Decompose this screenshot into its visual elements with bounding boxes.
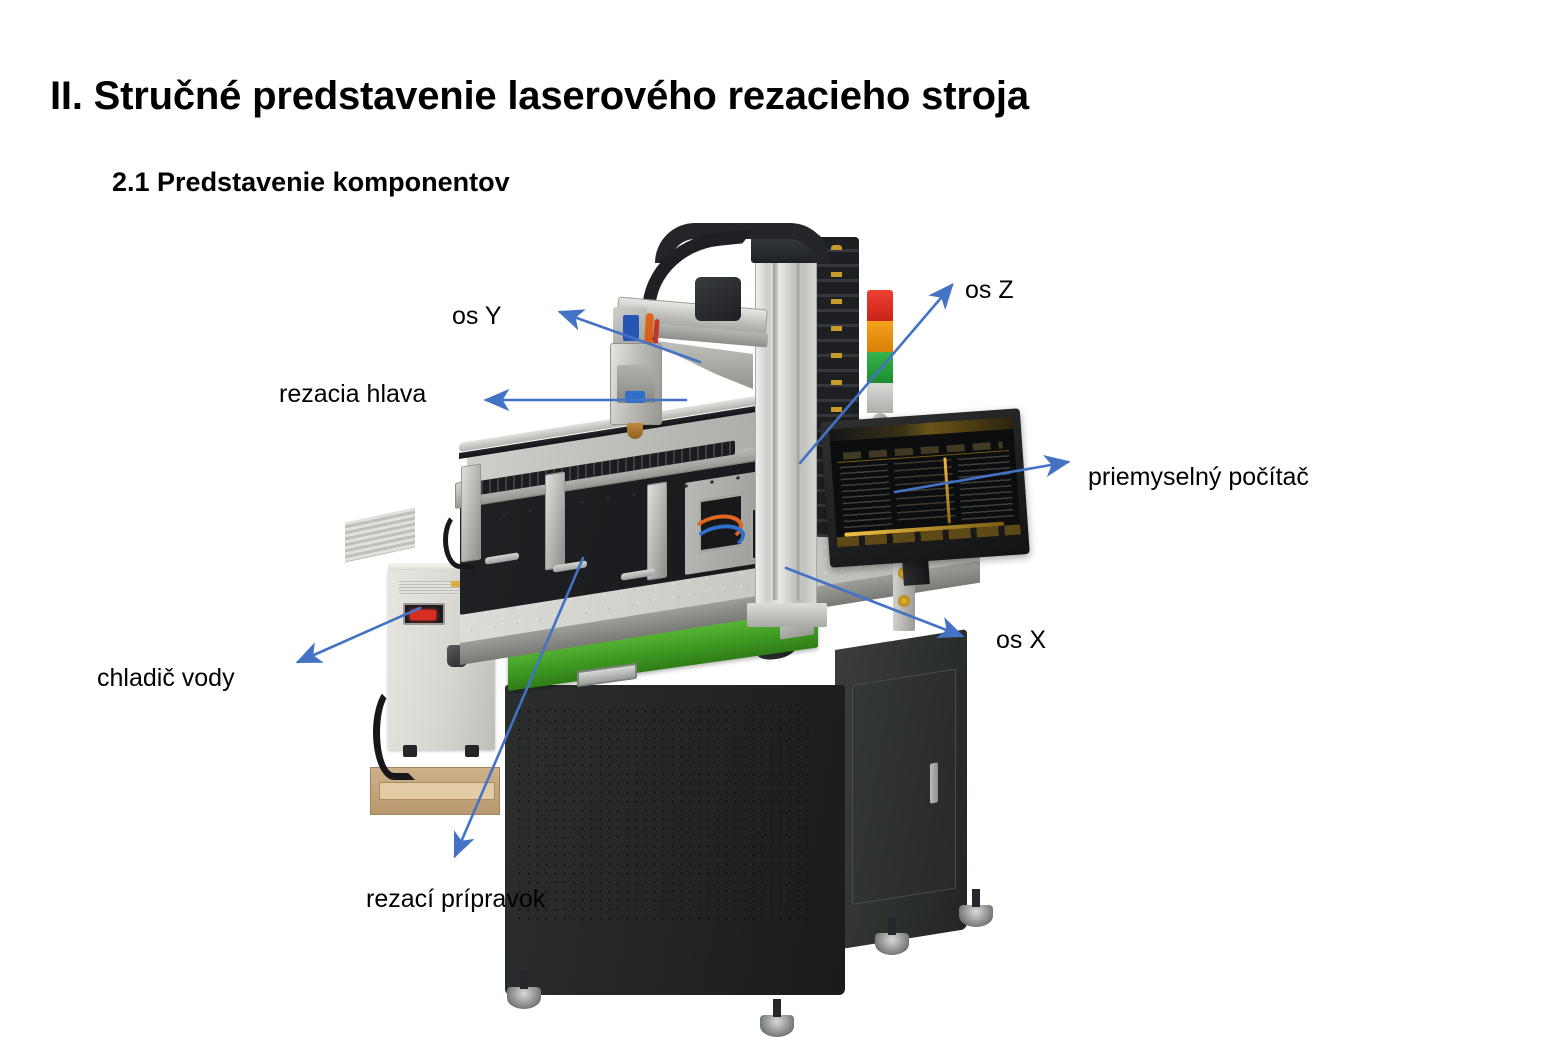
bios-right-column — [957, 455, 1013, 520]
presentation-slide: II. Stručné predstavenie laserového reza… — [0, 0, 1562, 990]
leveling-foot — [959, 905, 993, 927]
signal-lamp-red — [867, 290, 893, 321]
callout-label-rezacia-hlava: rezacia hlava — [279, 381, 426, 409]
monitor-mount-bolt — [898, 595, 910, 607]
section-subtitle: 2.1 Predstavenie komponentov — [112, 167, 510, 198]
callout-label-os-x: os X — [996, 627, 1046, 655]
signal-lamp-green — [867, 352, 893, 383]
chiller-hose — [373, 685, 415, 780]
callout-label-os-y: os Y — [452, 303, 502, 331]
fiber-connector-blue — [623, 315, 639, 341]
cutting-head-sensor — [625, 391, 645, 403]
signal-lamp-amber — [867, 321, 893, 352]
z-column-base — [747, 603, 827, 627]
z-axis-column — [755, 250, 817, 610]
bios-left-column — [840, 464, 892, 529]
fixture-cable — [443, 511, 477, 569]
monitor-screen — [829, 417, 1021, 548]
background-shelf — [345, 508, 415, 563]
chiller-foot — [465, 745, 479, 757]
callout-label-pc: priemyselný počítač — [1088, 464, 1309, 492]
cutting-head-nozzle — [627, 423, 643, 439]
y-axis-carriage — [695, 277, 741, 321]
chiller-display — [403, 603, 445, 625]
z-column-rail — [797, 260, 802, 600]
fixture-post — [545, 471, 565, 570]
z-column-rail — [773, 260, 778, 600]
fixture-post — [647, 481, 667, 580]
leveling-foot — [760, 1015, 794, 1037]
bios-brand-logo — [834, 440, 874, 450]
signal-tower-body — [867, 383, 893, 413]
cabinet-vent-perforation — [515, 707, 815, 927]
page-title: II. Stručné predstavenie laserového reza… — [50, 74, 1029, 119]
callout-label-pripravok: rezací prípravok — [366, 886, 545, 914]
cabinet-door-handle — [930, 762, 938, 803]
cabinet-access-door — [852, 669, 956, 905]
leveling-foot — [875, 933, 909, 955]
callout-label-os-z: os Z — [965, 277, 1014, 305]
callout-label-chladic: chladič vody — [97, 665, 235, 693]
leveling-foot — [507, 987, 541, 1009]
